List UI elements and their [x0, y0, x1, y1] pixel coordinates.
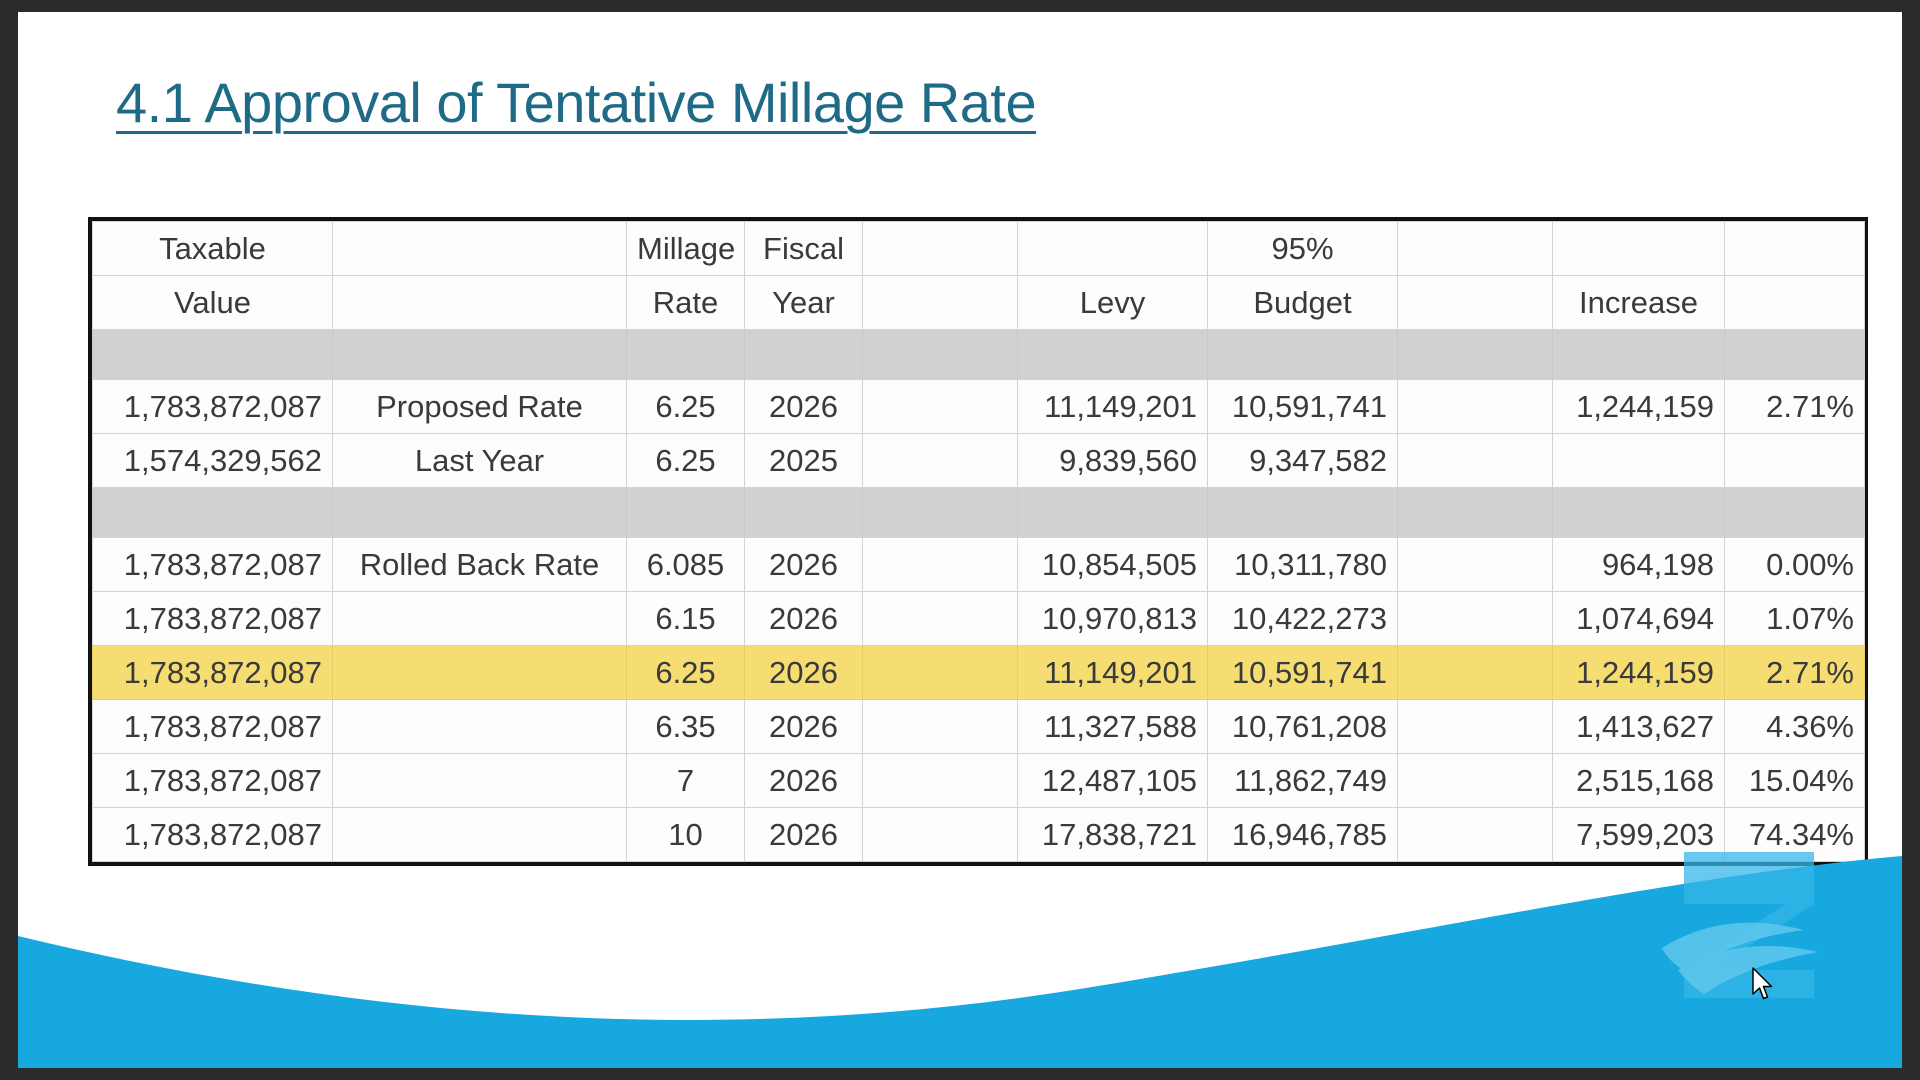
table-cell: 2026: [745, 538, 863, 592]
table-cell: [863, 488, 1018, 538]
table-spacer-row: [93, 488, 1865, 538]
table-cell: 7,599,203: [1553, 808, 1725, 862]
column-header-empty: [1725, 276, 1865, 330]
table-header-row: ValueRateYearLevyBudgetIncrease: [93, 276, 1865, 330]
table-cell: [333, 646, 627, 700]
table-cell: [863, 754, 1018, 808]
column-header-95-: 95%: [1208, 222, 1398, 276]
table-header-row: TaxableMillageFiscal95%: [93, 222, 1865, 276]
table-cell: 11,327,588: [1018, 700, 1208, 754]
table-cell: [1553, 488, 1725, 538]
table-cell: 10: [627, 808, 745, 862]
table-cell: [333, 488, 627, 538]
table-cell: 1,783,872,087: [93, 538, 333, 592]
table-cell: 1,783,872,087: [93, 700, 333, 754]
table-cell: 2026: [745, 808, 863, 862]
column-header-empty: [1398, 276, 1553, 330]
table-cell: [1398, 330, 1553, 380]
table-cell: 10,422,273: [1208, 592, 1398, 646]
column-header-budget: Budget: [1208, 276, 1398, 330]
table-cell: [863, 700, 1018, 754]
table-cell: Proposed Rate: [333, 380, 627, 434]
table-cell: 6.25: [627, 380, 745, 434]
table-cell: 2026: [745, 646, 863, 700]
table-cell: [1398, 434, 1553, 488]
table-cell: 10,970,813: [1018, 592, 1208, 646]
table-cell: 16,946,785: [1208, 808, 1398, 862]
table-cell: 1,574,329,562: [93, 434, 333, 488]
millage-rate-table-frame: TaxableMillageFiscal95%ValueRateYearLevy…: [88, 217, 1868, 866]
table-cell: 1,783,872,087: [93, 754, 333, 808]
table-cell: 1,783,872,087: [93, 592, 333, 646]
table-cell: 1,244,159: [1553, 646, 1725, 700]
table-cell: 1,783,872,087: [93, 808, 333, 862]
table-cell: 4.36%: [1725, 700, 1865, 754]
table-cell: 11,862,749: [1208, 754, 1398, 808]
column-header-fiscal: Fiscal: [745, 222, 863, 276]
table-cell: [863, 538, 1018, 592]
table-cell: 6.085: [627, 538, 745, 592]
column-header-empty: [333, 276, 627, 330]
table-cell: [1553, 330, 1725, 380]
table-cell: [1725, 330, 1865, 380]
table-cell: 6.35: [627, 700, 745, 754]
table-row: 1,574,329,562Last Year6.2520259,839,5609…: [93, 434, 1865, 488]
table-cell: [333, 808, 627, 862]
table-cell: 2026: [745, 700, 863, 754]
table-row: 1,783,872,087Rolled Back Rate6.085202610…: [93, 538, 1865, 592]
table-cell: [863, 380, 1018, 434]
column-header-levy: Levy: [1018, 276, 1208, 330]
table-cell: [1018, 488, 1208, 538]
table-cell: [1398, 808, 1553, 862]
table-cell: 1,783,872,087: [93, 380, 333, 434]
table-cell: 2.71%: [1725, 380, 1865, 434]
column-header-rate: Rate: [627, 276, 745, 330]
table-cell: 12,487,105: [1018, 754, 1208, 808]
table-cell: [745, 330, 863, 380]
column-header-taxable: Taxable: [93, 222, 333, 276]
table-cell: [333, 700, 627, 754]
table-cell: 9,839,560: [1018, 434, 1208, 488]
table-cell: 1,074,694: [1553, 592, 1725, 646]
table-cell: [1398, 488, 1553, 538]
table-cell: [1553, 434, 1725, 488]
table-cell: 2026: [745, 380, 863, 434]
page-title: 4.1 Approval of Tentative Millage Rate: [116, 74, 1316, 133]
table-cell: [863, 592, 1018, 646]
table-cell: [863, 646, 1018, 700]
table-cell: [627, 330, 745, 380]
table-cell: [863, 434, 1018, 488]
table-cell: [1398, 380, 1553, 434]
table-cell: [333, 754, 627, 808]
table-cell: [333, 330, 627, 380]
table-row: 1,783,872,087Proposed Rate6.25202611,149…: [93, 380, 1865, 434]
table-cell: [1018, 330, 1208, 380]
table-cell: [333, 592, 627, 646]
table-cell: [745, 488, 863, 538]
table-cell: 17,838,721: [1018, 808, 1208, 862]
table-cell: [863, 330, 1018, 380]
table-cell: 7: [627, 754, 745, 808]
table-body: TaxableMillageFiscal95%ValueRateYearLevy…: [93, 222, 1865, 862]
table-cell: Rolled Back Rate: [333, 538, 627, 592]
table-cell: 6.25: [627, 434, 745, 488]
column-header-empty: [1725, 222, 1865, 276]
table-cell: 10,591,741: [1208, 646, 1398, 700]
table-spacer-row: [93, 330, 1865, 380]
column-header-empty: [1018, 222, 1208, 276]
table-cell: 2,515,168: [1553, 754, 1725, 808]
column-header-empty: [1398, 222, 1553, 276]
table-cell: [627, 488, 745, 538]
column-header-value: Value: [93, 276, 333, 330]
screen: 4.1 Approval of Tentative Millage Rate T…: [0, 0, 1920, 1080]
table-cell: [1398, 646, 1553, 700]
table-cell: [93, 330, 333, 380]
table-row: 1,783,872,0876.35202611,327,58810,761,20…: [93, 700, 1865, 754]
table-cell: 11,149,201: [1018, 646, 1208, 700]
presentation-slide: 4.1 Approval of Tentative Millage Rate T…: [18, 12, 1902, 1068]
table-cell: [1208, 488, 1398, 538]
table-cell: 2026: [745, 592, 863, 646]
table-cell: 74.34%: [1725, 808, 1865, 862]
table-cell: [1398, 538, 1553, 592]
column-header-increase: Increase: [1553, 276, 1725, 330]
table-cell: 6.15: [627, 592, 745, 646]
table-row-highlighted: 1,783,872,0876.25202611,149,20110,591,74…: [93, 646, 1865, 700]
mouse-cursor: [1751, 967, 1775, 1003]
table-cell: [1725, 488, 1865, 538]
table-cell: Last Year: [333, 434, 627, 488]
table-cell: 10,311,780: [1208, 538, 1398, 592]
table-cell: 1.07%: [1725, 592, 1865, 646]
table-cell: 9,347,582: [1208, 434, 1398, 488]
column-header-empty: [863, 222, 1018, 276]
table-cell: 2026: [745, 754, 863, 808]
table-cell: 0.00%: [1725, 538, 1865, 592]
table-cell: 964,198: [1553, 538, 1725, 592]
table-cell: [1725, 434, 1865, 488]
table-cell: 10,591,741: [1208, 380, 1398, 434]
table-cell: [863, 808, 1018, 862]
table-cell: 15.04%: [1725, 754, 1865, 808]
slide-title-text: 4.1 Approval of Tentative Millage Rate: [116, 74, 1316, 133]
table-cell: 2.71%: [1725, 646, 1865, 700]
column-header-year: Year: [745, 276, 863, 330]
table-cell: 1,244,159: [1553, 380, 1725, 434]
table-cell: [1398, 700, 1553, 754]
table-row: 1,783,872,0877202612,487,10511,862,7492,…: [93, 754, 1865, 808]
table-cell: 11,149,201: [1018, 380, 1208, 434]
table-cell: 2025: [745, 434, 863, 488]
millage-rate-table: TaxableMillageFiscal95%ValueRateYearLevy…: [92, 221, 1865, 862]
table-cell: 1,783,872,087: [93, 646, 333, 700]
table-cell: [1208, 330, 1398, 380]
table-cell: [1398, 592, 1553, 646]
table-cell: [93, 488, 333, 538]
column-header-empty: [333, 222, 627, 276]
table-cell: 1,413,627: [1553, 700, 1725, 754]
column-header-empty: [863, 276, 1018, 330]
table-row: 1,783,872,08710202617,838,72116,946,7857…: [93, 808, 1865, 862]
table-cell: 10,761,208: [1208, 700, 1398, 754]
table-cell: [1398, 754, 1553, 808]
column-header-empty: [1553, 222, 1725, 276]
table-cell: 10,854,505: [1018, 538, 1208, 592]
table-row: 1,783,872,0876.15202610,970,81310,422,27…: [93, 592, 1865, 646]
column-header-millage: Millage: [627, 222, 745, 276]
table-cell: 6.25: [627, 646, 745, 700]
